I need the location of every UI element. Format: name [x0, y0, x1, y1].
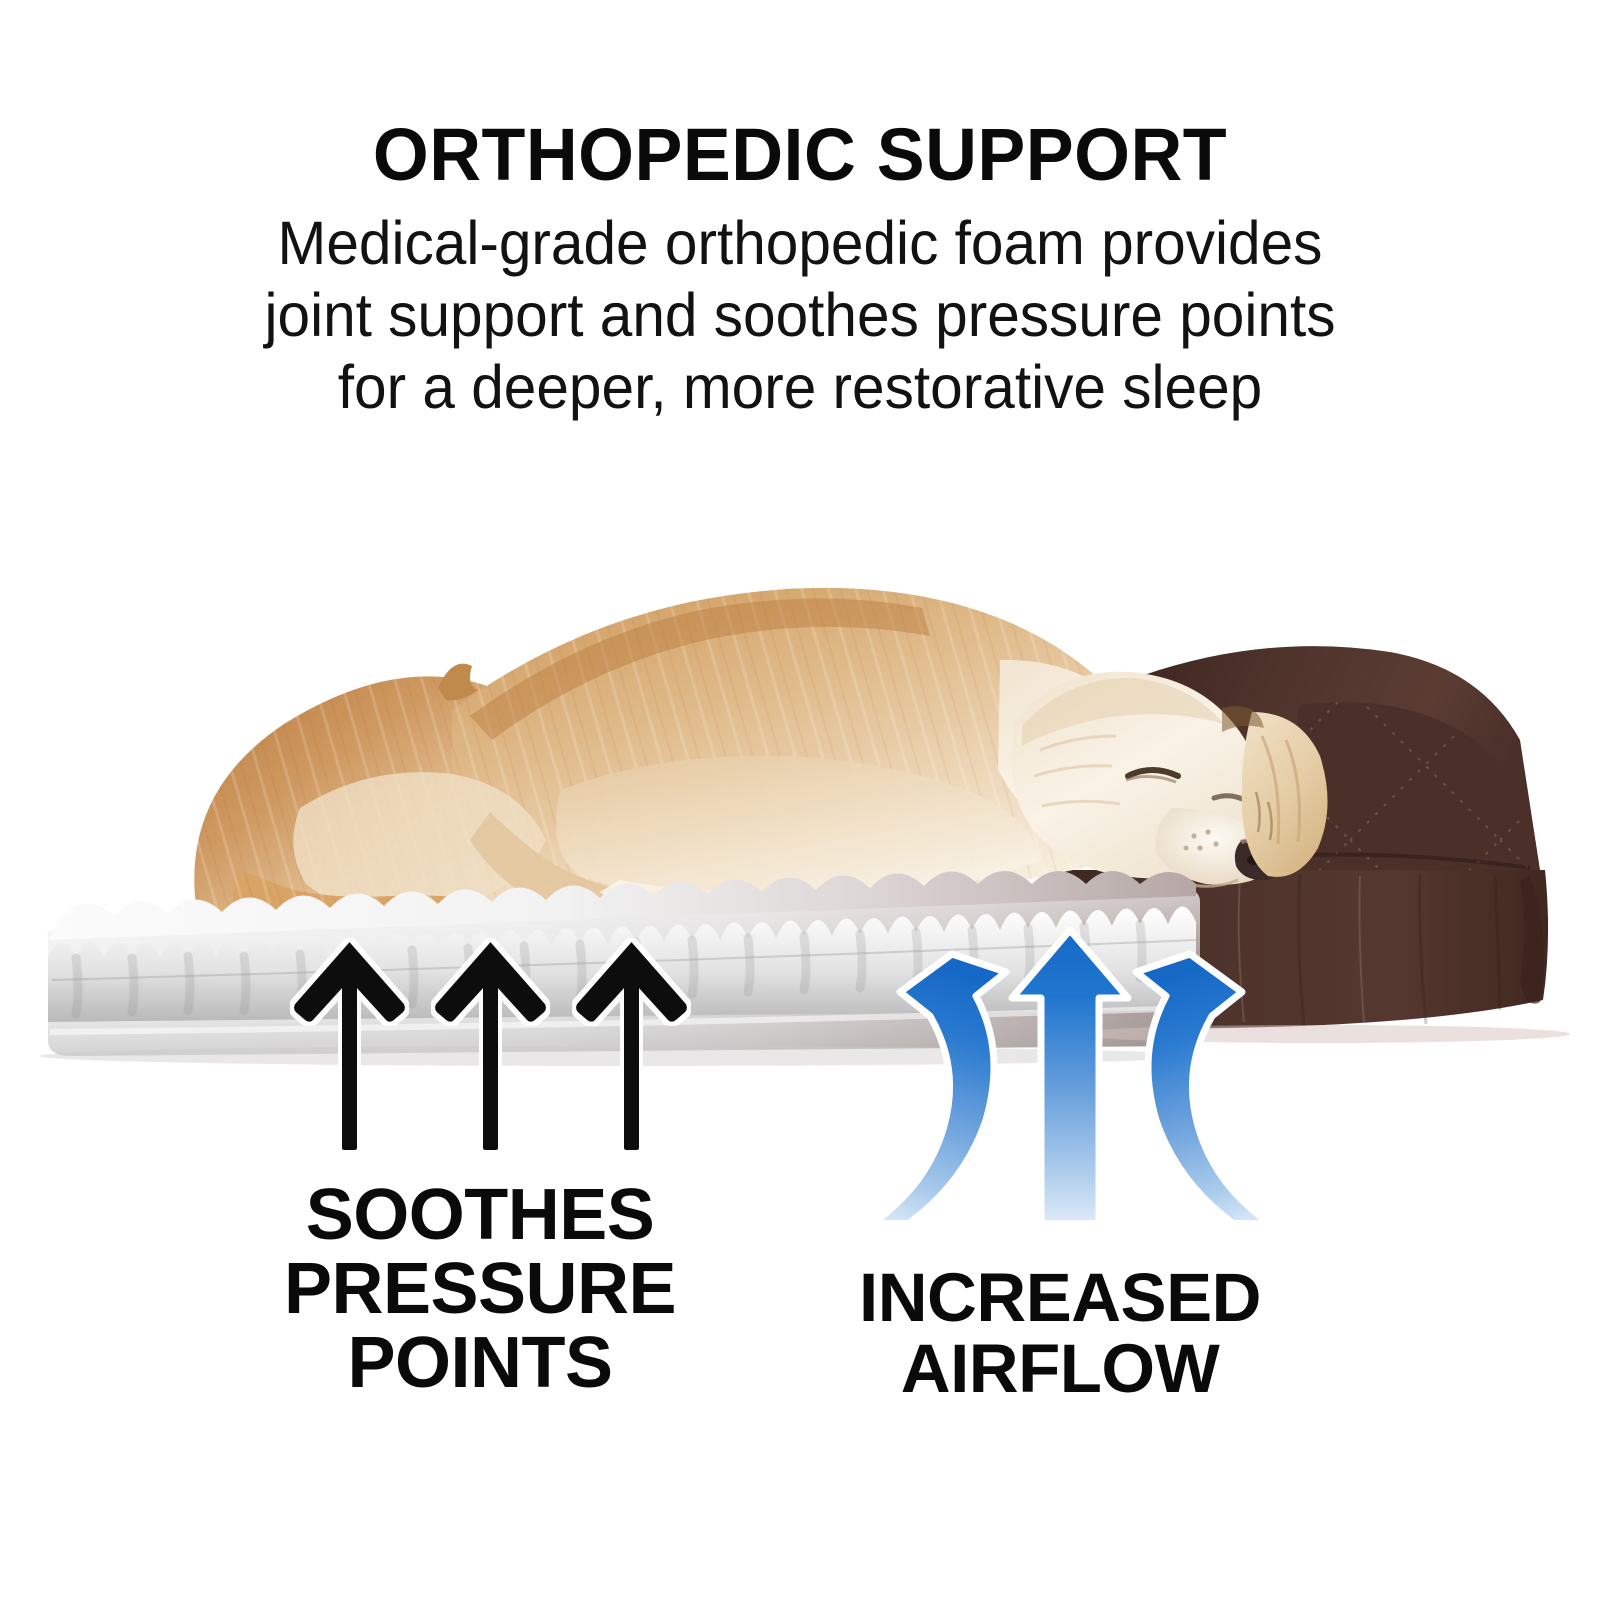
infographic-canvas: ORTHOPEDIC SUPPORT Medical-grade orthope…	[0, 0, 1600, 1600]
caption-line: AIRFLOW	[800, 1333, 1320, 1404]
header-block: ORTHOPEDIC SUPPORT Medical-grade orthope…	[0, 118, 1600, 424]
caption-increased-airflow: INCREASED AIRFLOW	[800, 1262, 1320, 1404]
subtitle-line-1: Medical-grade orthopedic foam provides	[118, 208, 1481, 280]
caption-line: POINTS	[200, 1326, 760, 1400]
caption-line: SOOTHES	[200, 1178, 760, 1252]
page-title: ORTHOPEDIC SUPPORT	[24, 118, 1576, 192]
caption-soothes-pressure-points: SOOTHES PRESSURE POINTS	[200, 1178, 760, 1400]
subtitle-line-3: for a deeper, more restorative sleep	[118, 352, 1481, 424]
subtitle-line-2: joint support and soothes pressure point…	[118, 280, 1481, 352]
product-photo	[0, 540, 1600, 1080]
caption-line: PRESSURE	[200, 1252, 760, 1326]
subtitle-block: Medical-grade orthopedic foam provides j…	[118, 208, 1481, 424]
caption-line: INCREASED	[800, 1262, 1320, 1333]
